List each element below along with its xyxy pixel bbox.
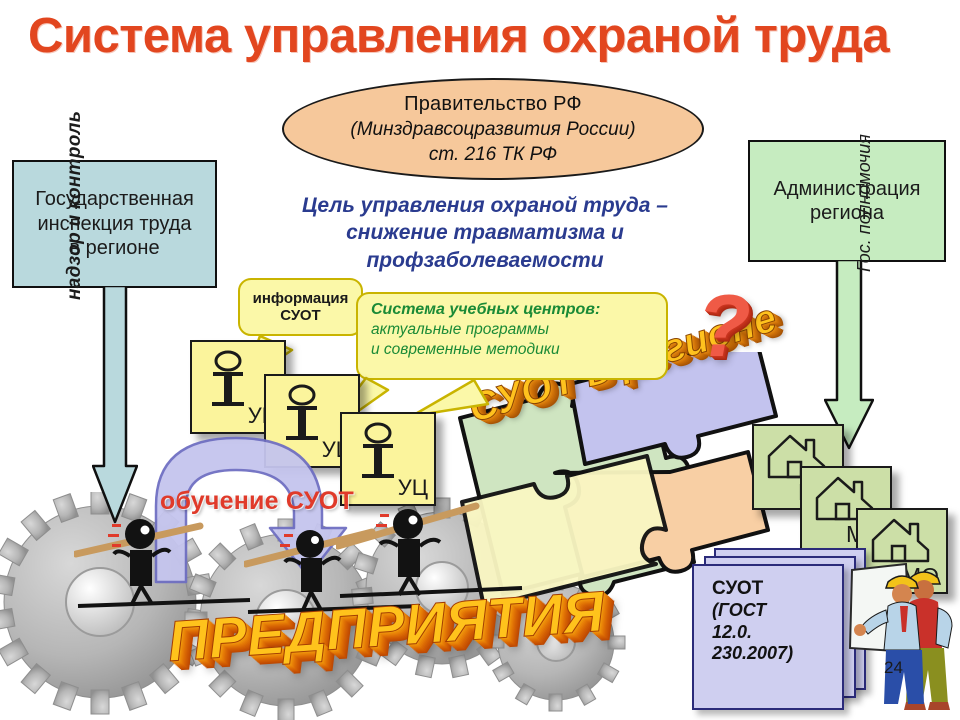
supervision-arrow-label: надзор и контроль bbox=[64, 111, 86, 300]
info-callout-line2: СУОТ bbox=[253, 307, 349, 324]
inspection-line1: Государственная bbox=[35, 187, 194, 211]
government-node: Правительство РФ (Минздравсоцразвития Ро… bbox=[282, 78, 704, 180]
goal-statement: Цель управления охраной труда – снижение… bbox=[255, 192, 715, 274]
inspection-line2: инспекция труда bbox=[35, 212, 194, 236]
regional-administration-node: Администрация региона bbox=[748, 140, 946, 262]
administration-line1: Администрация bbox=[773, 177, 920, 201]
info-callout: информация СУОТ bbox=[238, 278, 363, 336]
construction-workers-icon bbox=[848, 556, 960, 720]
goal-line3: профзаболеваемости bbox=[255, 247, 715, 274]
standard-line2: (ГОСТ bbox=[712, 600, 842, 621]
goal-line2: снижение травматизма и bbox=[255, 219, 715, 246]
page-title: Система управления охраной труда bbox=[28, 12, 938, 61]
government-line2: (Минздравсоцразвития России) bbox=[350, 119, 635, 141]
slide-canvas: Система управления охраной труда bbox=[0, 0, 960, 720]
question-mark-icon: ? bbox=[697, 282, 751, 370]
standard-line3: 12.0. bbox=[712, 622, 842, 643]
standard-line4: 230.2007) bbox=[712, 643, 842, 664]
government-line1: Правительство РФ bbox=[404, 93, 582, 116]
administration-line2: региона bbox=[773, 201, 920, 225]
goal-line1: Цель управления охраной труда – bbox=[255, 192, 715, 219]
authority-arrow bbox=[824, 260, 874, 450]
state-inspection-node: Государственная инспекция труда в регион… bbox=[12, 160, 217, 288]
inspection-line3: в регионе bbox=[35, 236, 194, 260]
authority-arrow-label: Гос. полномочия bbox=[854, 134, 875, 272]
government-line3: ст. 216 ТК РФ bbox=[429, 144, 557, 166]
standard-line1: СУОТ bbox=[712, 578, 842, 600]
standard-document-front[interactable]: СУОТ (ГОСТ 12.0. 230.2007) bbox=[692, 564, 844, 710]
centers-callout-heading: Система учебных центров: bbox=[371, 301, 655, 319]
supervision-arrow bbox=[92, 286, 138, 524]
page-number: 24 bbox=[884, 658, 903, 678]
info-callout-line1: информация bbox=[253, 290, 349, 307]
